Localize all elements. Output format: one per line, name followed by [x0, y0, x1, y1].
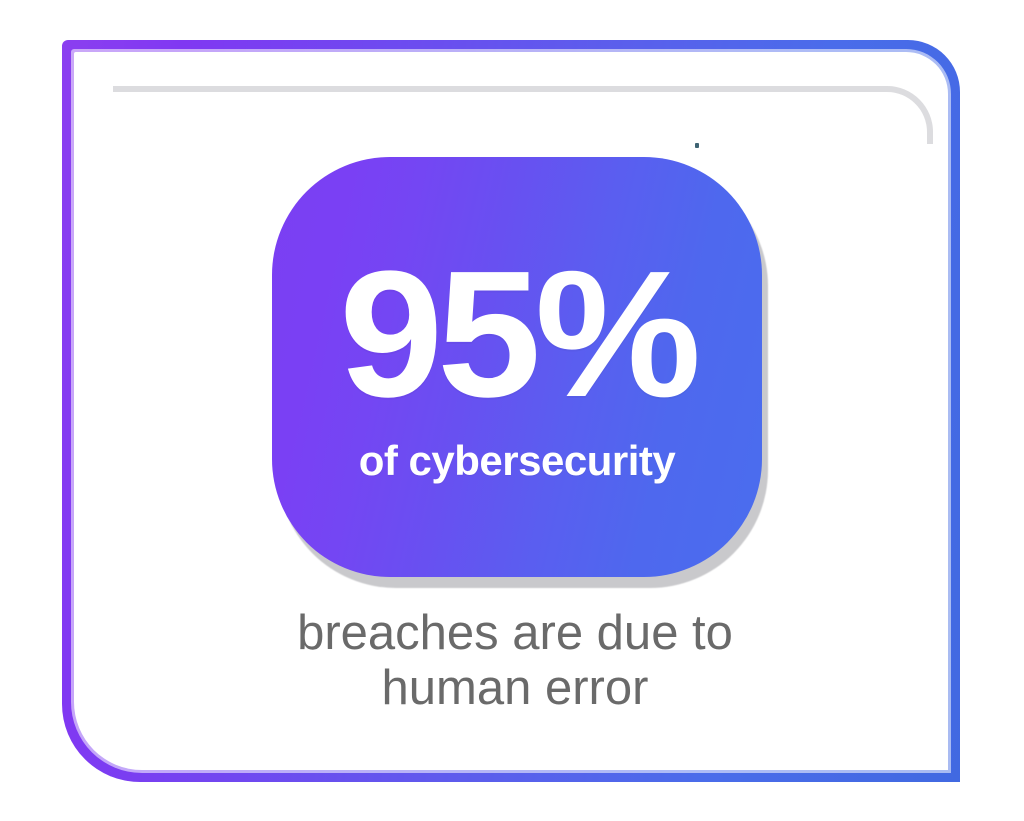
caption-block: breaches are due to human error — [150, 606, 880, 716]
infographic-canvas: 95% of cybersecurity breaches are due to… — [0, 0, 1024, 821]
caption-line-1: breaches are due to — [150, 606, 880, 661]
stat-card: 95% of cybersecurity — [272, 157, 762, 577]
decorative-grey-rule — [113, 86, 933, 144]
caption-line-2: human error — [150, 661, 880, 716]
accent-dot — [695, 143, 699, 148]
stat-subject-label: of cybersecurity — [359, 440, 675, 482]
stat-value: 95% — [339, 252, 695, 418]
